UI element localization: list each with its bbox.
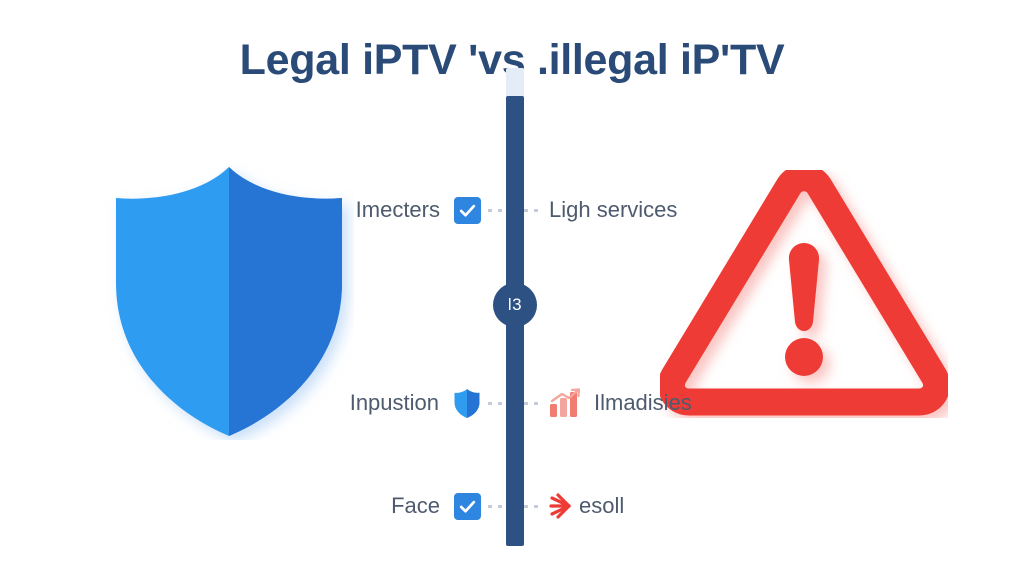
row-left-label: Face — [391, 495, 440, 517]
shield-icon — [453, 388, 481, 419]
row-left-side: Inpustion — [0, 388, 515, 419]
connector-dots-right — [524, 209, 542, 212]
row-left-label: Inpustion — [350, 392, 439, 414]
row-right-label: Ilmadisies — [594, 392, 692, 414]
row-right-side: Ligh services — [515, 199, 1024, 221]
row-left-side: Imecters — [0, 197, 515, 224]
connector-dots-right — [524, 402, 542, 405]
comparison-row: Inpustion Ilmadisies — [0, 381, 1024, 425]
connector-dots-left — [488, 209, 506, 212]
check-box-icon[interactable] — [454, 197, 481, 224]
red-cross-icon — [549, 491, 579, 521]
comparison-row: Imecters Ligh services — [0, 188, 1024, 232]
row-right-label: esoll — [579, 495, 624, 517]
comparison-infographic: Legal iPTV 'vs .illegal iP'TV — [0, 0, 1024, 573]
check-box-icon[interactable] — [454, 493, 481, 520]
divider-badge: l3 — [493, 283, 537, 327]
row-right-side: esoll — [515, 491, 1024, 521]
connector-dots-left — [488, 402, 506, 405]
bar-chart-icon — [549, 388, 582, 418]
row-left-label: Imecters — [356, 199, 440, 221]
row-right-side: Ilmadisies — [515, 388, 1024, 418]
connector-dots-left — [488, 505, 506, 508]
comparison-row: Face esoll — [0, 484, 1024, 528]
row-left-side: Face — [0, 493, 515, 520]
row-right-label: Ligh services — [549, 199, 677, 221]
connector-dots-right — [524, 505, 542, 508]
